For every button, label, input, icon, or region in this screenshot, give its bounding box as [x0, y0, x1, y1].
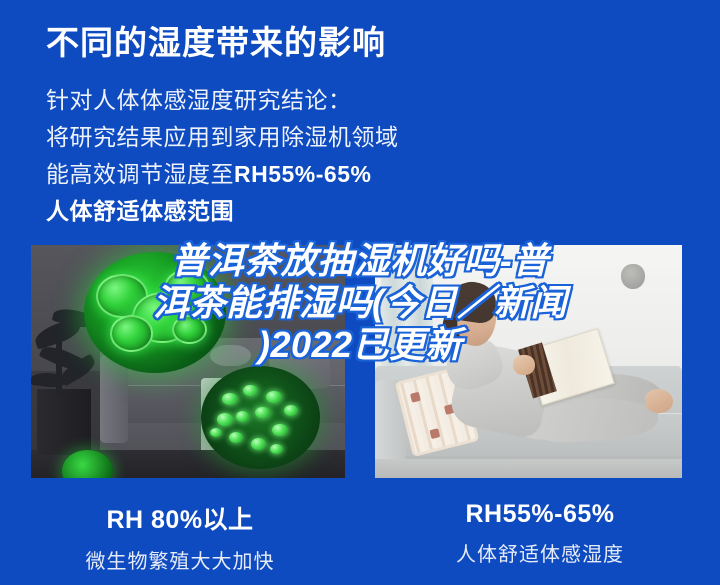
- photo-left-high-humidity: [31, 245, 345, 478]
- bright-floor: [375, 459, 682, 478]
- virus-spike: [255, 407, 269, 418]
- virus-spike: [272, 424, 288, 436]
- caption-row: RH 80%以上 微生物繁殖大大加快 RH55%-65% 人体舒适体感湿度: [0, 500, 720, 574]
- virus-spike: [217, 413, 233, 425]
- virus-spike: [236, 411, 249, 421]
- pillow-motif: [410, 392, 421, 403]
- virus-spike: [229, 432, 243, 443]
- header-line-3-prefix: 能高效调节湿度至: [46, 161, 234, 187]
- caption-right-title: RH55%-65%: [360, 500, 720, 529]
- dark-sofa-cushion: [210, 345, 251, 366]
- header-line-4: 人体舒适体感范围: [46, 193, 399, 230]
- photo-band: [0, 245, 720, 478]
- virus-spike: [222, 393, 238, 405]
- woman-hand: [513, 355, 534, 376]
- woman-foot: [645, 389, 673, 412]
- pillow-motif: [429, 429, 440, 440]
- header-body-text: 针对人体体感湿度研究结论： 将研究结果应用到家用除湿机领域 能高效调节湿度至RH…: [46, 82, 399, 230]
- microbe-cluster: [84, 252, 225, 373]
- page-title: 不同的湿度带来的影响: [46, 16, 386, 64]
- caption-left-subtitle: 微生物繁殖大大加快: [0, 545, 360, 574]
- window-curtain: [381, 245, 433, 385]
- caption-left: RH 80%以上 微生物繁殖大大加快: [0, 500, 360, 574]
- header-line-1: 针对人体体感湿度研究结论：: [46, 82, 399, 119]
- microbe-ball: [164, 269, 210, 308]
- virus-spike: [251, 438, 267, 450]
- microbe-ball: [172, 315, 207, 344]
- header-line-3-emphasis: RH55%-65%: [234, 161, 371, 187]
- header-line-3: 能高效调节湿度至RH55%-65%: [46, 156, 399, 193]
- virus-sphere: [201, 366, 320, 469]
- virus-spike: [243, 385, 257, 396]
- virus-spike: [270, 444, 283, 454]
- photo-right-comfort-humidity: [375, 245, 682, 478]
- plant-pot: [37, 389, 90, 454]
- header-section: 不同的湿度带来的影响 针对人体体感湿度研究结论： 将研究结果应用到家用除湿机领域…: [0, 0, 720, 232]
- caption-right: RH55%-65% 人体舒适体感湿度: [360, 500, 720, 574]
- header-line-2: 将研究结果应用到家用除湿机领域: [46, 119, 399, 156]
- virus-spike: [210, 428, 222, 437]
- microbe-ball: [110, 315, 154, 352]
- dark-sofa-arm: [100, 355, 128, 444]
- poster-root: 不同的湿度带来的影响 针对人体体感湿度研究结论： 将研究结果应用到家用除湿机领域…: [0, 0, 720, 585]
- wall-lamp: [621, 264, 646, 290]
- caption-right-subtitle: 人体舒适体感湿度: [360, 538, 720, 567]
- caption-left-title: RH 80%以上: [0, 500, 360, 536]
- virus-spike: [284, 405, 298, 416]
- plant-stem: [56, 329, 62, 394]
- virus-spike: [266, 391, 282, 403]
